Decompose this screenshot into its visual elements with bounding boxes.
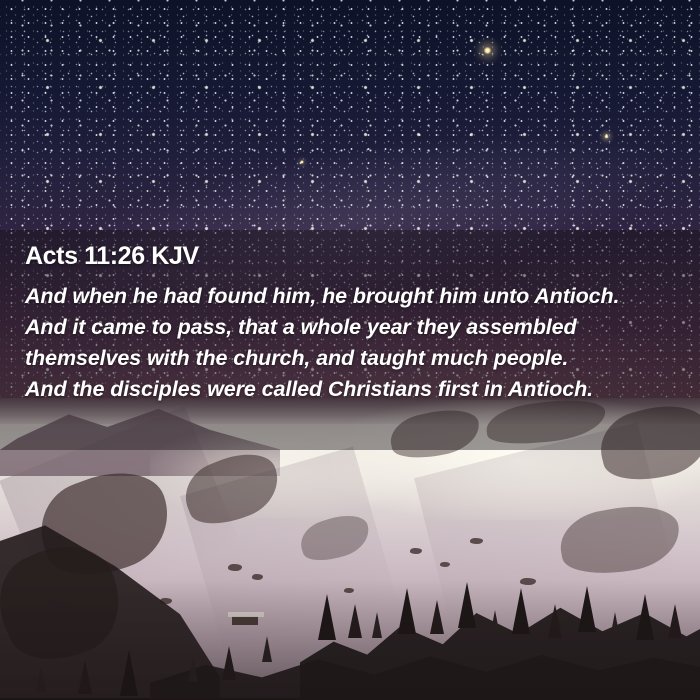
- verse-reference: Acts 11:26 KJV: [25, 242, 199, 271]
- verse-line: And it came to pass, that a whole year t…: [25, 312, 685, 343]
- small-rock: [440, 562, 450, 567]
- verse-body: And when he had found him, he brought hi…: [25, 281, 685, 405]
- verse-line: themselves with the church, and taught m…: [25, 343, 685, 374]
- verse-line: And when he had found him, he brought hi…: [25, 281, 685, 312]
- verse-image-canvas: Acts 11:26 KJV And when he had found him…: [0, 0, 700, 700]
- verse-line: And the disciples were called Christians…: [25, 374, 685, 405]
- small-rock: [410, 548, 422, 554]
- small-rock: [228, 564, 242, 571]
- verse-text-block: Acts 11:26 KJV And when he had found him…: [0, 230, 700, 450]
- small-rock: [470, 538, 483, 544]
- bottom-vignette: [0, 580, 700, 700]
